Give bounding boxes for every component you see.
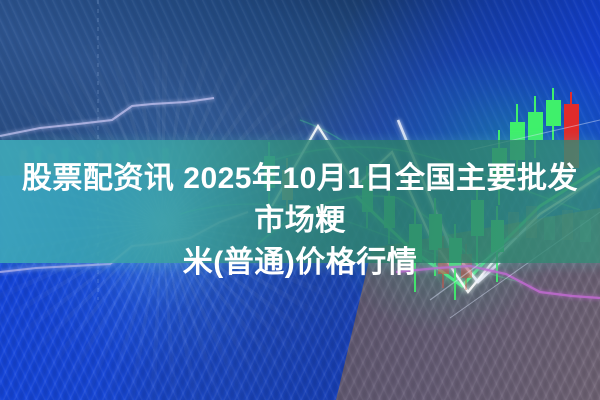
cover-image: 股票配资讯 2025年10月1日全国主要批发市场粳 米(普通)价格行情 bbox=[0, 0, 600, 400]
headline-line-1: 股票配资讯 2025年10月1日全国主要批发市场粳 bbox=[14, 158, 586, 242]
headline-line-2: 米(普通)价格行情 bbox=[14, 242, 586, 284]
headline: 股票配资讯 2025年10月1日全国主要批发市场粳 米(普通)价格行情 bbox=[0, 158, 600, 284]
lavender-upper-line bbox=[0, 98, 214, 136]
